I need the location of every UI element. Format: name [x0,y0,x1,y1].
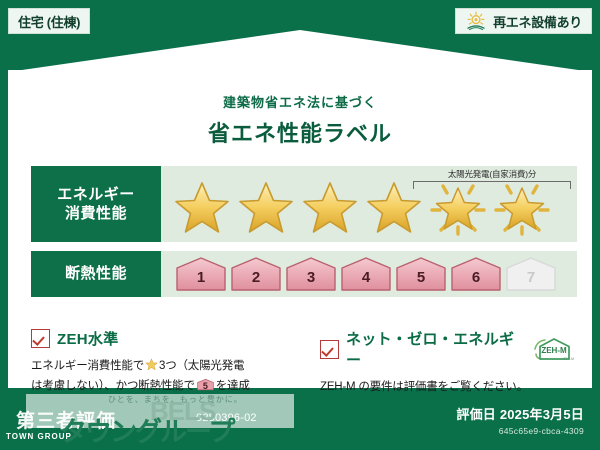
watermark-town-group: TOWN GROUP [6,432,72,441]
star-icon [237,180,295,236]
star-icon [173,180,231,236]
insulation-rating-panel: 1 2 [161,251,577,297]
net-zero-energy-block: ネット・ゼロ・エネルギー ZEH-M ZEH-M ZEH-M の要件は評価書をご [304,328,577,397]
insulation-performance-row: 断熱性能 1 [31,251,577,297]
house-badge-icon: 5 [197,378,214,391]
zeh-desc-part3: は考慮しない）、かつ断熱性能で [31,380,195,392]
energy-label-line1: エネルギー [57,185,135,205]
star-icon [365,180,423,236]
energy-performance-label-box: エネルギー 消費性能 [31,166,161,242]
evaluation-date-block: 評価日 2025年3月5日 645c65e9-cbca-4309 [456,404,584,436]
document-hash: 645c65e9-cbca-4309 [456,426,584,436]
level-number: 6 [472,269,480,291]
roof-shape [8,30,592,72]
renewable-badge-label: 再エネ設備あり [493,12,582,31]
insulation-level-2: 2 [230,257,282,291]
zeh-standard-title: ZEH水準 [57,328,119,349]
energy-rating-panel: 太陽光発電(自家消費)分 [161,166,577,242]
level-number: 1 [197,269,205,291]
level-number: 4 [362,269,370,291]
evaluation-date-value: 2025年3月5日 [500,407,584,422]
star-4 [363,178,425,238]
checkbox-checked-icon [320,340,339,359]
insulation-performance-label-box: 断熱性能 [31,251,161,297]
performance-rows: エネルギー 消費性能 太陽光発電(自家消費)分 [31,166,577,306]
registration-id: 0280396-02 [196,412,257,424]
svg-text:ZEH-M: ZEH-M [563,357,574,361]
zeh-standard-block: ZEH水準 エネルギー消費性能で3つ（太陽光発電 は考慮しない）、かつ断熱性能で… [31,328,304,397]
title-subtitle: 建築物省エネ法に基づく [8,92,592,111]
checkbox-checked-icon [31,329,50,348]
star-1 [171,178,233,238]
watermark-tagline: ひとを、まちを、もっと豊かに。 [108,394,243,405]
star-sparkle-icon [493,180,551,236]
level-number: 2 [252,269,260,291]
insulation-level-1: 1 [175,257,227,291]
insulation-level-4: 4 [340,257,392,291]
zeh-standard-description: エネルギー消費性能で3つ（太陽光発電 は考慮しない）、かつ断熱性能で5を達成 [31,356,304,396]
star-icon [145,358,158,371]
insulation-level-5: 5 [395,257,447,291]
star-5-solar [427,178,489,238]
label-footer: 第三者評価 0280396-02 評価日 2025年3月5日 645c65e9-… [0,392,600,450]
zeh-desc-part1: エネルギー消費性能で [31,360,144,372]
insulation-level-scale: 1 2 [175,257,557,291]
third-party-evaluation-text: 第三者評価 [16,406,116,433]
label-title-block: 建築物省エネ法に基づく 省エネ性能ラベル [8,92,592,148]
certification-checks: ZEH水準 エネルギー消費性能で3つ（太陽光発電 は考慮しない）、かつ断熱性能で… [31,328,577,397]
level-number: 5 [417,269,425,291]
sun-icon [465,11,487,31]
net-zero-energy-title: ネット・ゼロ・エネルギー [346,328,521,370]
level-number: 7 [527,269,535,291]
insulation-level-6: 6 [450,257,502,291]
evaluation-date-label: 評価日 [456,407,496,422]
insulation-level-3: 3 [285,257,337,291]
zeh-standard-header: ZEH水準 [31,328,304,349]
label-sheet: 建築物省エネ法に基づく 省エネ性能ラベル エネルギー 消費性能 太陽光発 [8,30,592,388]
page-title: 省エネ性能ラベル [8,116,592,148]
star-rating [171,178,553,238]
star-2 [235,178,297,238]
energy-performance-label: 住宅 (住棟) [0,0,600,450]
insulation-level-7: 7 [505,257,557,291]
star-sparkle-icon [429,180,487,236]
svg-text:ZEH-M: ZEH-M [541,346,567,355]
label-body: 建築物省エネ法に基づく 省エネ性能ラベル エネルギー 消費性能 太陽光発 [8,70,592,388]
insulation-label: 断熱性能 [65,264,127,284]
zeh-desc-part4: を達成 [216,380,250,392]
house-badge-value: 5 [197,382,214,391]
star-3 [299,178,361,238]
star-icon [301,180,359,236]
level-number: 3 [307,269,315,291]
net-zero-energy-header: ネット・ゼロ・エネルギー ZEH-M ZEH-M [320,328,577,370]
energy-label-line2: 消費性能 [57,204,135,224]
building-type-label: 住宅 (住棟) [18,12,80,31]
energy-performance-row: エネルギー 消費性能 太陽光発電(自家消費)分 [31,166,577,242]
star-6-solar [491,178,553,238]
zeh-m-logo-icon: ZEH-M ZEH-M [531,336,577,362]
zeh-desc-part2: 3つ（太陽光発電 [159,360,244,372]
